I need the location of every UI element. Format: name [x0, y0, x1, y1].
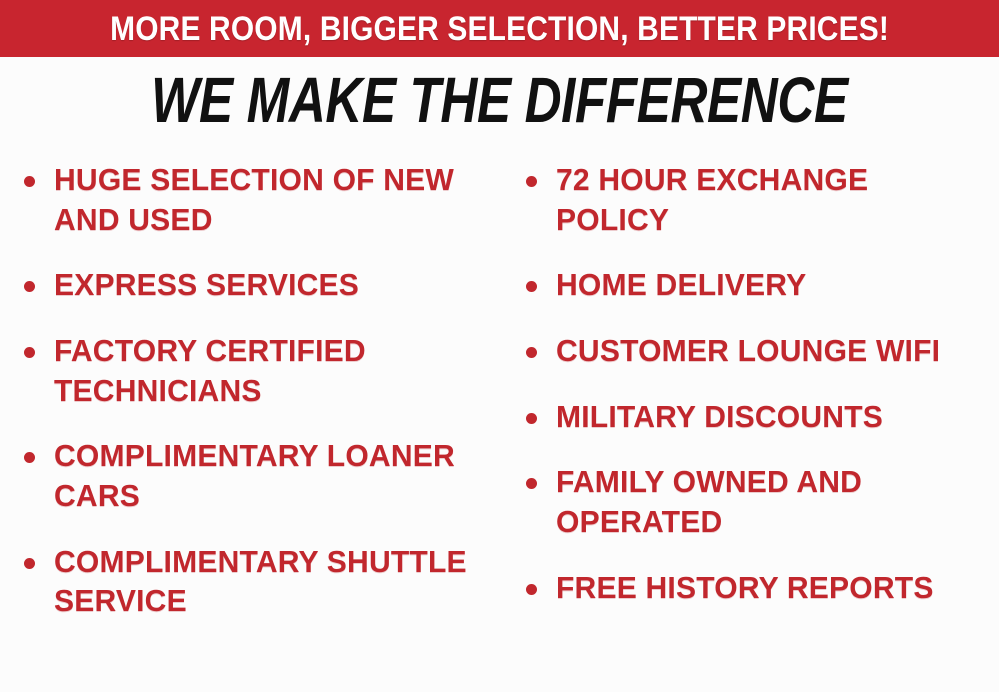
- list-item-label: FAMILY OWNED AND OPERATED: [556, 462, 986, 541]
- bullet-dot-icon: [526, 281, 537, 292]
- list-item-label: MILITARY DISCOUNTS: [556, 397, 986, 437]
- banner-headline-text: MORE ROOM, BIGGER SELECTION, BETTER PRIC…: [110, 12, 889, 46]
- bullet-dot-icon: [526, 584, 537, 595]
- list-item-label: EXPRESS SERVICES: [54, 265, 485, 305]
- bullet-dot-icon: [24, 281, 35, 292]
- bullet-dot-icon: [24, 176, 35, 187]
- list-item: CUSTOMER LOUNGE WIFI: [520, 331, 999, 371]
- list-item-label: 72 HOUR EXCHANGE POLICY: [556, 160, 986, 239]
- main-headline-text: WE MAKE THE DIFFERENCE: [151, 68, 848, 132]
- list-item: HUGE SELECTION OF NEW AND USED: [18, 160, 498, 239]
- bullet-dot-icon: [526, 176, 537, 187]
- list-item: FACTORY CERTIFIED TECHNICIANS: [18, 331, 498, 410]
- list-item: FAMILY OWNED AND OPERATED: [520, 462, 999, 541]
- list-item-label: HOME DELIVERY: [556, 265, 986, 305]
- list-item: COMPLIMENTARY SHUTTLE SERVICE: [18, 542, 498, 621]
- list-item-label: HUGE SELECTION OF NEW AND USED: [54, 160, 485, 239]
- bullet-dot-icon: [24, 558, 35, 569]
- bullet-dot-icon: [526, 413, 537, 424]
- list-item: EXPRESS SERVICES: [18, 265, 498, 305]
- bullet-dot-icon: [526, 478, 537, 489]
- list-item: MILITARY DISCOUNTS: [520, 397, 999, 437]
- bullet-dot-icon: [24, 452, 35, 463]
- list-item-label: FREE HISTORY REPORTS: [556, 568, 986, 608]
- list-item: FREE HISTORY REPORTS: [520, 568, 999, 608]
- bullet-dot-icon: [24, 347, 35, 358]
- list-item-label: COMPLIMENTARY LOANER CARS: [54, 436, 485, 515]
- list-item-label: FACTORY CERTIFIED TECHNICIANS: [54, 331, 485, 410]
- top-banner: MORE ROOM, BIGGER SELECTION, BETTER PRIC…: [0, 0, 999, 57]
- main-headline: WE MAKE THE DIFFERENCE: [0, 68, 999, 132]
- bullet-dot-icon: [526, 347, 537, 358]
- list-item: COMPLIMENTARY LOANER CARS: [18, 436, 498, 515]
- list-item: HOME DELIVERY: [520, 265, 999, 305]
- benefits-column-right: 72 HOUR EXCHANGE POLICY HOME DELIVERY CU…: [520, 160, 999, 633]
- benefits-column-left: HUGE SELECTION OF NEW AND USED EXPRESS S…: [18, 160, 498, 647]
- list-item-label: CUSTOMER LOUNGE WIFI: [556, 331, 986, 371]
- list-item: 72 HOUR EXCHANGE POLICY: [520, 160, 999, 239]
- promo-poster: MORE ROOM, BIGGER SELECTION, BETTER PRIC…: [0, 0, 999, 692]
- list-item-label: COMPLIMENTARY SHUTTLE SERVICE: [54, 542, 485, 621]
